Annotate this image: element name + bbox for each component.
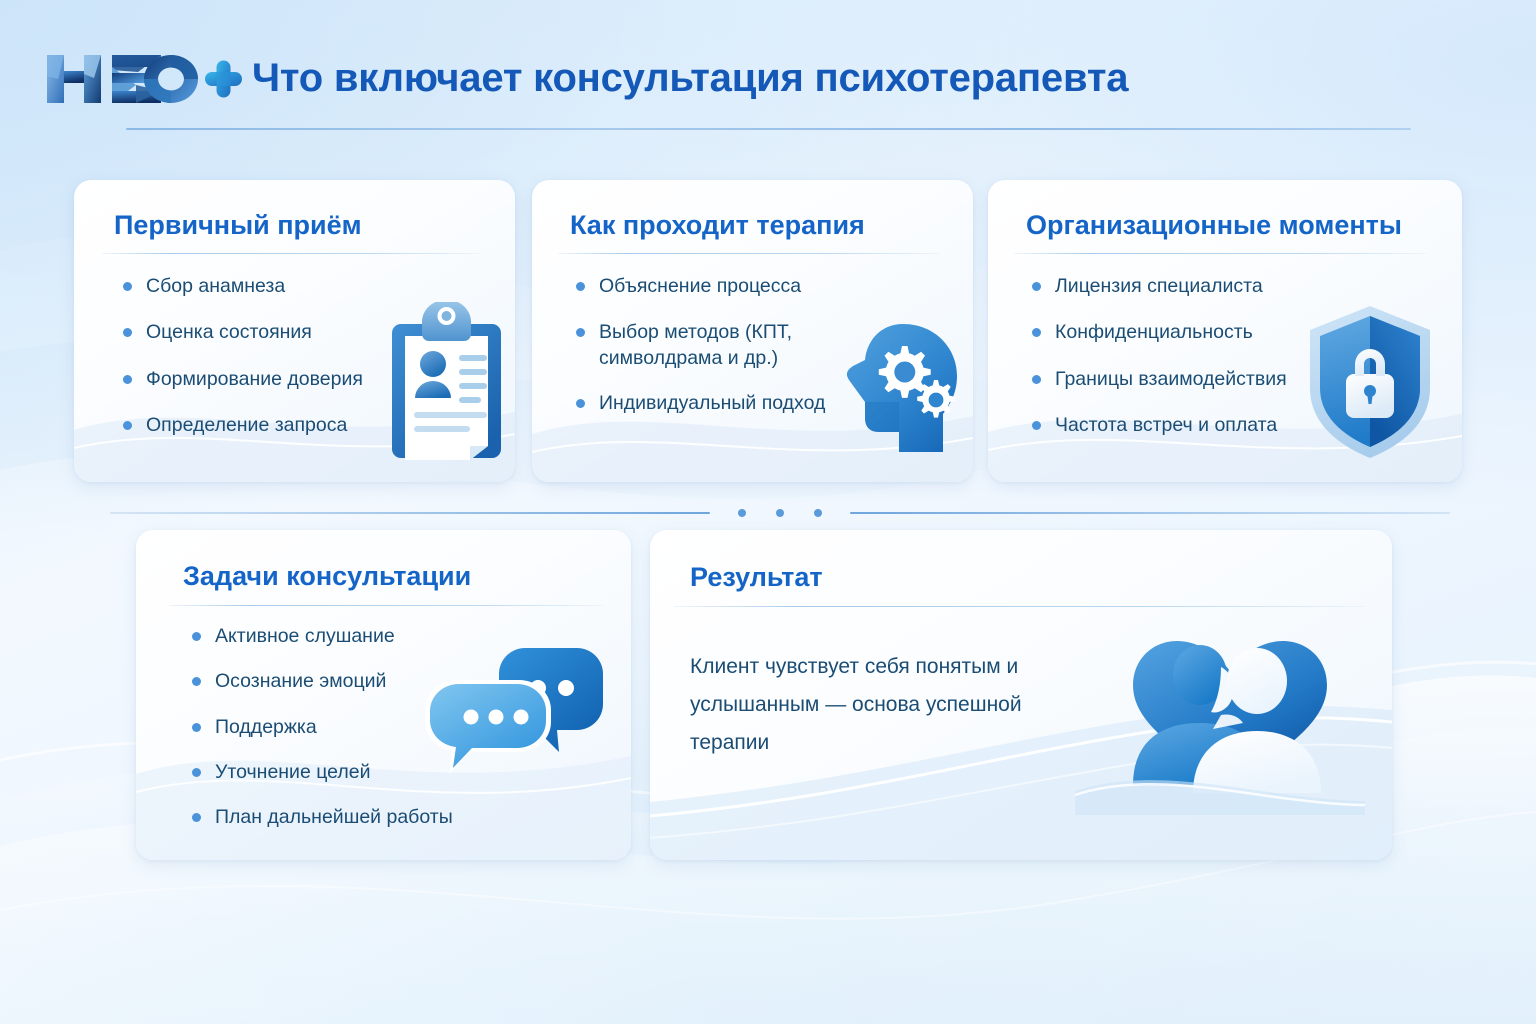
card-title-divider (558, 253, 940, 254)
bullet-dot (192, 677, 201, 686)
bullet-dot (1032, 328, 1041, 337)
card-title: Первичный приём (114, 210, 362, 241)
row-divider (110, 508, 1450, 518)
divider-dot (776, 509, 784, 517)
bullet-dot (1032, 282, 1041, 291)
card-how-therapy-goes[interactable]: Как проходит терапия Объяснение процесса… (532, 180, 973, 482)
card-primary-reception[interactable]: Первичный приём Сбор анамнеза Оценка сос… (74, 180, 515, 482)
infographic-canvas: Что включает консультация психотерапевта… (0, 0, 1536, 1024)
card-title: Как проходит терапия (570, 210, 865, 241)
list-item: Лицензия специалиста (1028, 274, 1328, 299)
divider-dot (814, 509, 822, 517)
bullet-dot (123, 282, 132, 291)
card-title: Организационные моменты (1026, 210, 1402, 241)
bullet-list: Объяснение процесса Выбор методов (КПТ, … (572, 274, 852, 437)
list-item: Объяснение процесса (572, 274, 852, 299)
card-title: Результат (690, 562, 823, 593)
head-gears-icon (839, 320, 963, 456)
bullet-dot (192, 813, 201, 822)
neo-plus-logo (38, 48, 243, 110)
bullet-dot (1032, 421, 1041, 430)
bullet-dot (576, 328, 585, 337)
bullet-dot (192, 768, 201, 777)
card-consultation-tasks[interactable]: Задачи консультации Активное слушание Ос… (136, 530, 631, 860)
bullet-dot (123, 421, 132, 430)
list-item: Конфиденциальность (1028, 320, 1328, 345)
list-item: Частота встреч и оплата (1028, 413, 1328, 438)
clipboard-icon (386, 302, 507, 462)
bullet-dot (576, 282, 585, 291)
heart-people-icon (1075, 615, 1365, 815)
chat-bubbles-icon (421, 642, 606, 782)
card-title: Задачи консультации (183, 561, 471, 592)
card-result[interactable]: Результат Клиент чувствует себя понятым … (650, 530, 1392, 860)
bullet-dot (576, 399, 585, 408)
bullet-dot (192, 723, 201, 732)
list-item: Сбор анамнеза (119, 274, 439, 299)
bullet-dot (123, 375, 132, 384)
result-body-text: Клиент чувствует себя понятым и услышанн… (690, 648, 1090, 763)
list-item: Выбор методов (КПТ, символдрама и др.) (572, 320, 852, 371)
card-title-divider (169, 605, 604, 606)
bullet-list: Лицензия специалиста Конфиденциальность … (1028, 274, 1328, 459)
bullet-dot (123, 328, 132, 337)
card-title-divider (102, 253, 480, 254)
card-organizational-matters[interactable]: Организационные моменты Лицензия специал… (988, 180, 1462, 482)
divider-dot (738, 509, 746, 517)
bullet-dot (192, 632, 201, 641)
shield-lock-icon (1306, 304, 1434, 460)
bullet-dot (1032, 375, 1041, 384)
list-item: План дальнейшей работы (188, 805, 488, 830)
list-item: Индивидуальный подход (572, 391, 852, 416)
header-divider (126, 128, 1411, 130)
divider-line-right (850, 512, 1450, 514)
card-title-divider (674, 606, 1364, 607)
card-title-divider (1014, 253, 1426, 254)
list-item: Границы взаимодействия (1028, 367, 1328, 392)
page-title: Что включает консультация психотерапевта (252, 56, 1128, 101)
divider-line-left (110, 512, 710, 514)
page-header: Что включает консультация психотерапевта (0, 0, 1536, 140)
